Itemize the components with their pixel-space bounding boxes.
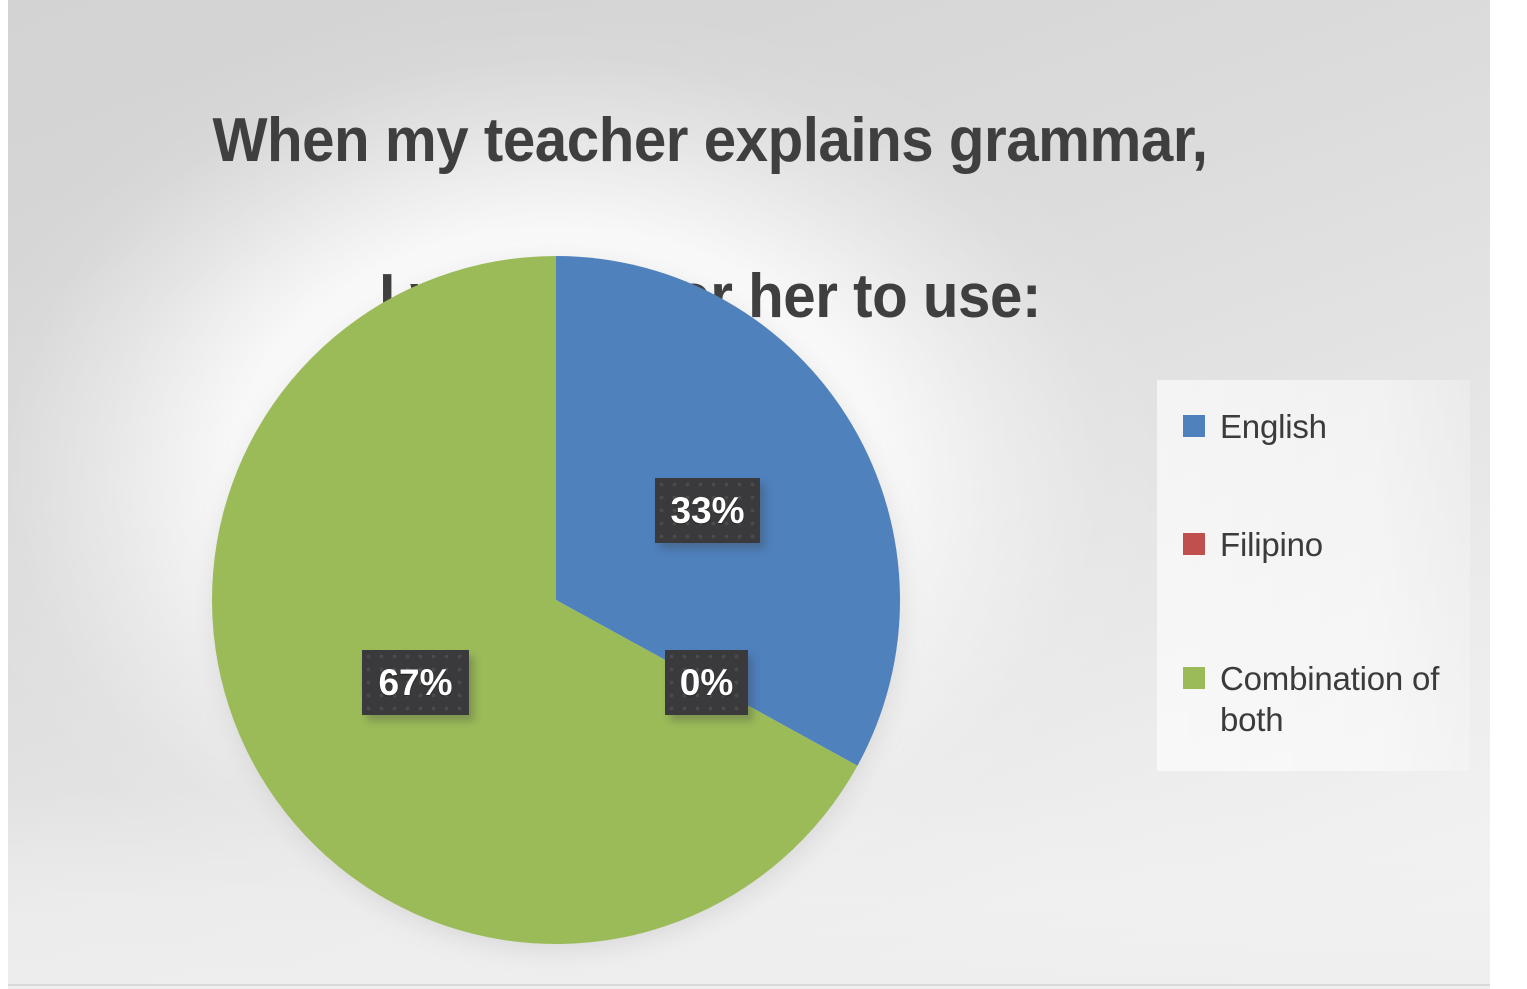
legend-swatch-icon — [1183, 667, 1205, 689]
legend-item-label: Combination of both — [1220, 658, 1465, 740]
pie-slices — [212, 256, 900, 944]
legend-item-label: English — [1220, 406, 1327, 447]
pie-chart-svg — [208, 252, 904, 948]
chart-legend: English Filipino Combination of both — [1157, 380, 1470, 771]
legend-swatch-icon — [1183, 533, 1205, 555]
data-label-combination: 67% — [362, 650, 469, 715]
legend-item-label: Filipino — [1220, 524, 1323, 565]
legend-item-english[interactable]: English — [1183, 406, 1465, 447]
data-label-combination-text: 67% — [378, 664, 452, 701]
data-label-english-text: 33% — [670, 492, 744, 529]
legend-item-combination[interactable]: Combination of both — [1183, 658, 1465, 740]
data-label-filipino-text: 0% — [680, 664, 733, 701]
chart-title-line-1: When my teacher explains grammar, — [99, 102, 1321, 180]
slide-canvas: When my teacher explains grammar, I want… — [0, 0, 1527, 989]
legend-swatch-icon — [1183, 415, 1205, 437]
data-label-english: 33% — [655, 478, 760, 543]
pie-chart — [208, 252, 904, 948]
legend-item-filipino[interactable]: Filipino — [1183, 524, 1465, 565]
background-bottom-edge — [8, 984, 1490, 986]
data-label-filipino: 0% — [665, 650, 748, 715]
